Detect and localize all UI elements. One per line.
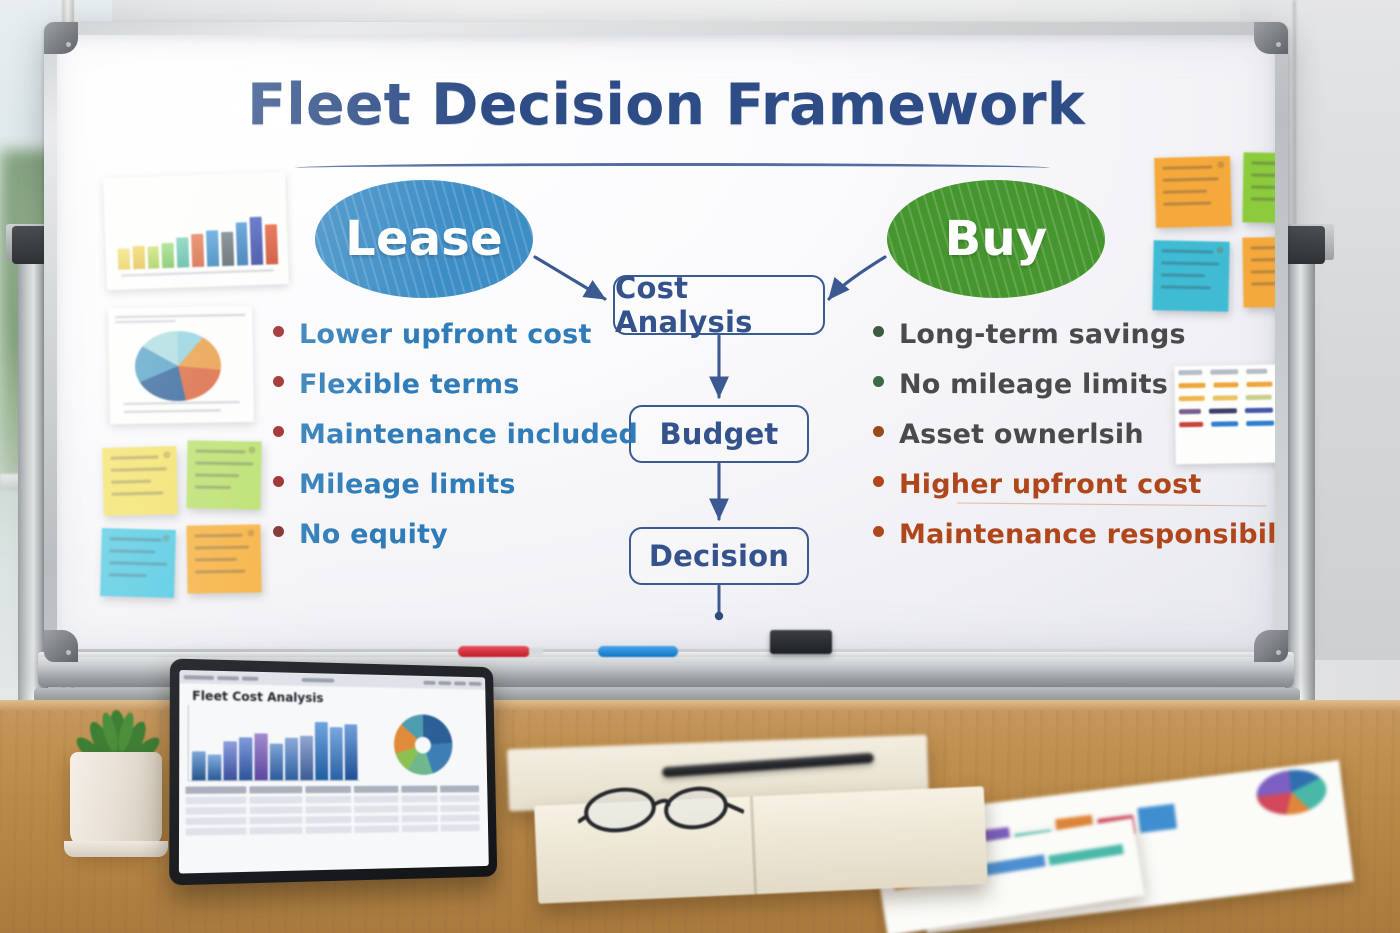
tablet-device[interactable]: Fleet Cost Analysis: [169, 658, 497, 885]
sticky-pin-icon: [163, 451, 170, 458]
list-item: No equity: [273, 519, 625, 569]
flow-step-label: Cost Analysis: [615, 271, 823, 339]
whiteboard-surface[interactable]: Fleet Decision Framework: [57, 35, 1275, 649]
sticky-note[interactable]: [1152, 240, 1229, 312]
list-item: Maintenance included: [273, 419, 625, 469]
lease-bullet-label: Lower upfront cost: [299, 319, 592, 350]
list-item: Lower upfront cost: [273, 319, 625, 369]
sticky-note[interactable]: [1154, 156, 1232, 228]
buy-bullet-label: Maintenance responsibility: [899, 519, 1275, 550]
node-buy[interactable]: Buy: [887, 180, 1105, 298]
sticky-note[interactable]: [1242, 236, 1275, 307]
flow-step-label: Decision: [649, 539, 789, 573]
list-item: Higher upfront cost: [873, 469, 1275, 519]
table-header-row: [186, 785, 482, 793]
bullet-dot-icon: [873, 526, 884, 537]
sticky-note[interactable]: [100, 528, 176, 598]
table-row: [1175, 416, 1275, 432]
table-row: [185, 795, 482, 804]
bullet-dot-icon: [273, 326, 284, 337]
bullet-dot-icon: [273, 426, 284, 437]
pie-chart-printout[interactable]: [108, 306, 254, 424]
table-row: [185, 814, 482, 825]
sticky-pin-icon: [163, 535, 170, 542]
bullet-dot-icon: [273, 376, 284, 387]
board-corner-top-left: [44, 22, 78, 54]
bullet-dot-icon: [873, 376, 884, 387]
printout-bar-chart: [116, 212, 278, 270]
sticky-note[interactable]: [102, 446, 178, 516]
tablet-bar-chart[interactable]: [188, 705, 360, 781]
board-corner-bottom-left: [44, 630, 78, 662]
bullet-dot-icon: [873, 476, 884, 487]
flow-step-decision[interactable]: Decision: [629, 527, 809, 585]
blue-marker[interactable]: [598, 646, 678, 657]
list-item: Long-term savings: [873, 319, 1275, 369]
list-item: Mileage limits: [273, 469, 625, 519]
title-underline: [295, 163, 1050, 168]
decision-stub-dot: [715, 612, 723, 620]
lease-bullet-list: Lower upfront cost Flexible terms Mainte…: [273, 319, 625, 569]
marker-tip: [529, 648, 543, 655]
board-title: Fleet Decision Framework: [57, 77, 1275, 134]
bullet-dot-icon: [273, 476, 284, 487]
sticky-note[interactable]: [186, 440, 261, 509]
bullet-dot-icon: [273, 526, 284, 537]
whiteboard-stand-post-right: [1285, 228, 1315, 768]
lease-bullet-label: Maintenance included: [299, 419, 638, 450]
plant-pot: [70, 752, 162, 848]
flow-step-cost-analysis[interactable]: Cost Analysis: [613, 275, 825, 335]
bar-chart-printout[interactable]: [103, 172, 289, 290]
lease-bullet-label: No equity: [299, 519, 448, 550]
sticky-note[interactable]: [186, 524, 261, 593]
table-row: [185, 824, 482, 835]
bullet-dot-icon: [873, 326, 884, 337]
buy-bullet-label: Long-term savings: [899, 319, 1186, 350]
printout-pie-chart: [134, 330, 221, 401]
node-lease[interactable]: Lease: [315, 180, 533, 298]
list-item: Maintenance responsibility: [873, 519, 1275, 569]
lease-bullet-label: Mileage limits: [299, 469, 516, 500]
whiteboard-eraser[interactable]: [770, 630, 832, 654]
sticky-pin-icon: [1217, 161, 1224, 168]
node-lease-label: Lease: [345, 211, 503, 267]
bullet-dot-icon: [873, 426, 884, 437]
tablet-screen[interactable]: Fleet Cost Analysis: [179, 670, 489, 874]
tablet-pie-chart[interactable]: [365, 708, 480, 781]
buy-bullet-label: Asset ownerlsih: [899, 419, 1144, 450]
comparison-table-printout[interactable]: [1174, 364, 1275, 465]
sticky-pin-icon: [248, 446, 255, 453]
board-corner-bottom-right: [1254, 630, 1288, 662]
node-buy-label: Buy: [945, 211, 1048, 267]
tablet-toolbar[interactable]: [179, 670, 485, 690]
red-marker[interactable]: [458, 646, 530, 657]
buy-bullet-label: Higher upfront cost: [899, 469, 1201, 500]
sticky-note[interactable]: [1242, 152, 1275, 223]
sticky-pin-icon: [1216, 247, 1223, 254]
arrow-lease-to-cost: [535, 257, 605, 299]
board-corner-top-right: [1254, 22, 1288, 54]
table-row: [185, 805, 482, 815]
printout-title: [103, 177, 285, 189]
office-scene: Fleet Decision Framework: [0, 0, 1400, 933]
sticky-pin-icon: [247, 529, 254, 536]
arrow-buy-to-cost: [829, 257, 885, 299]
tablet-data-table[interactable]: [185, 785, 482, 835]
flow-step-budget[interactable]: Budget: [629, 405, 809, 463]
lease-bullet-label: Flexible terms: [299, 369, 520, 400]
whiteboard[interactable]: Fleet Decision Framework: [44, 22, 1288, 662]
buy-bullet-label: No mileage limits: [899, 369, 1168, 400]
flow-step-label: Budget: [660, 417, 779, 451]
list-item: Flexible terms: [273, 369, 625, 419]
eyeglasses: [578, 782, 744, 834]
